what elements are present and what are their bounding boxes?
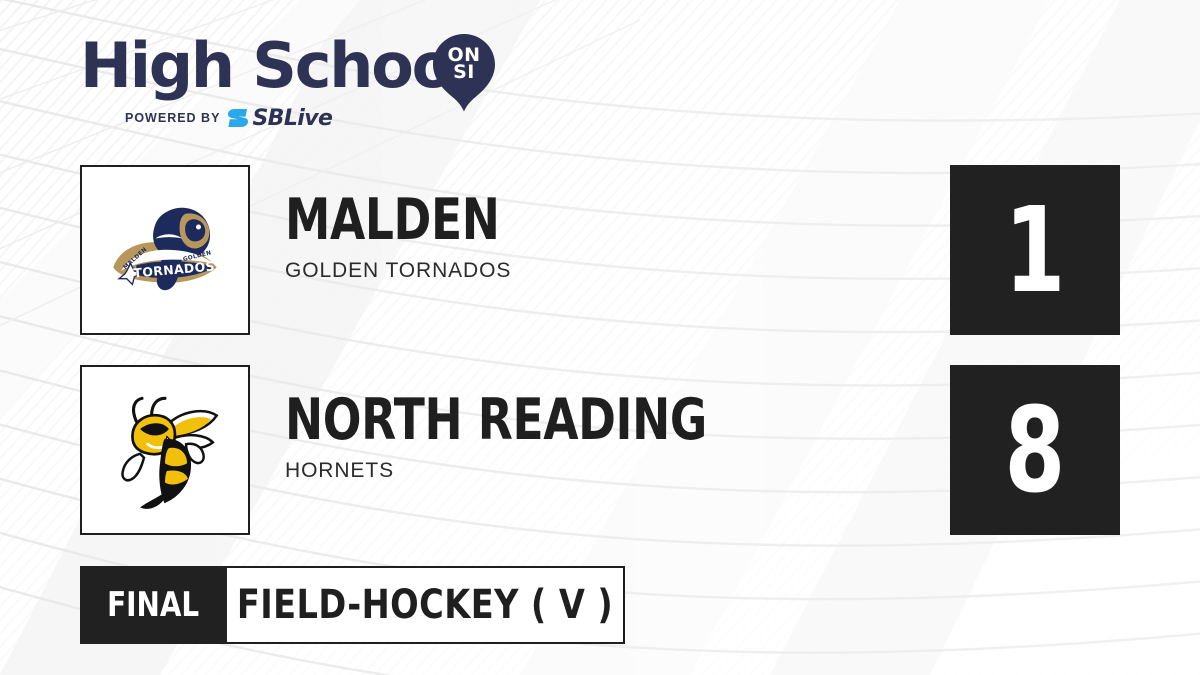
team-score-box: 8 [950, 365, 1120, 535]
team-score-box: 1 [950, 165, 1120, 335]
sport-label-box: FIELD-HOCKEY ( V ) [227, 566, 625, 644]
team-score: 8 [1005, 391, 1065, 509]
team-name: NORTH READING [285, 391, 797, 449]
sblive-wordmark: SBLive [252, 106, 332, 131]
powered-by-row: POWERED BY SBLive [125, 108, 332, 128]
team-identity: NORTH READING HORNETS [285, 391, 925, 483]
scoreboard-graphic: High School ON SI POWERED BY SBLive [0, 0, 1200, 675]
status-badge: FINAL [80, 566, 227, 644]
malden-golden-tornados-lion-logo: TORNADOS MALDEN GOLDEN [98, 183, 232, 317]
status-badge-label: FINAL [107, 585, 199, 625]
team-score: 1 [1005, 191, 1065, 309]
game-status-bar: FINAL FIELD-HOCKEY ( V ) [80, 566, 625, 644]
powered-by-label: POWERED BY [125, 111, 220, 125]
sblive-bolt-icon [227, 108, 249, 128]
team-name: MALDEN [285, 191, 797, 249]
team-logo-box: TORNADOS MALDEN GOLDEN [80, 165, 250, 335]
sport-label: FIELD-HOCKEY ( V ) [237, 582, 613, 628]
sblive-logo: SBLive [227, 106, 332, 131]
team-row: NORTH READING HORNETS 8 [80, 365, 1120, 535]
team-row: TORNADOS MALDEN GOLDEN MALDEN GOLDEN TOR… [80, 165, 1120, 335]
team-logo-box [80, 365, 250, 535]
team-mascot: HORNETS [285, 459, 925, 483]
north-reading-hornets-bee-logo [98, 383, 232, 517]
team-identity: MALDEN GOLDEN TORNADOS [285, 191, 925, 283]
map-pin-icon: ON SI [432, 33, 496, 115]
team-mascot: GOLDEN TORNADOS [285, 259, 925, 283]
